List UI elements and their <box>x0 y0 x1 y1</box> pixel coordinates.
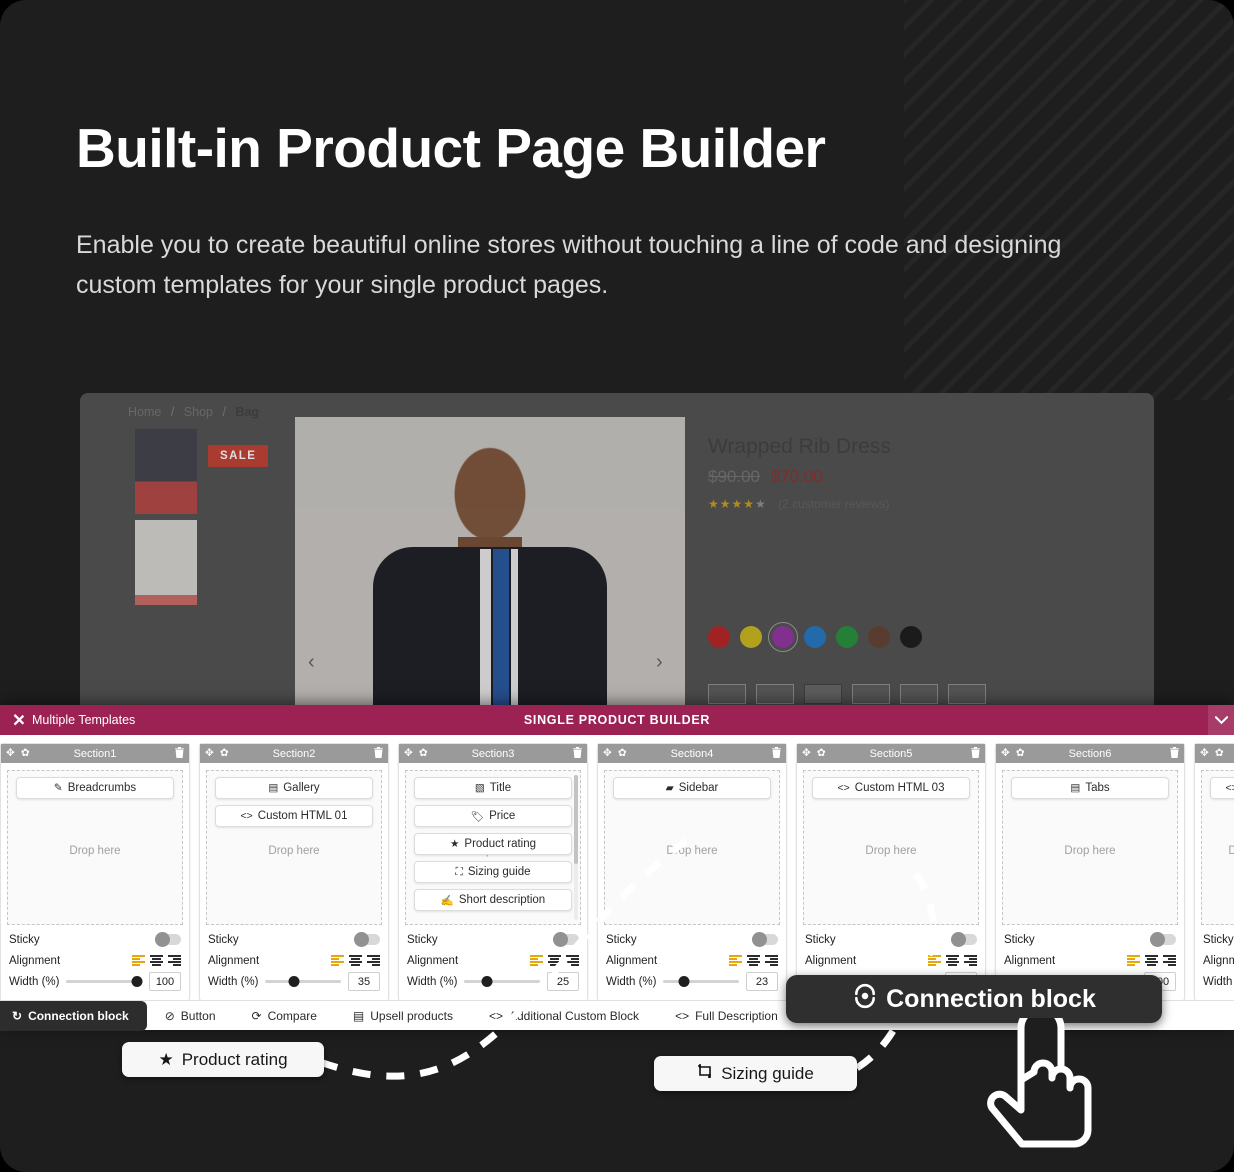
palette-item-label: Upsell products <box>370 1009 453 1023</box>
section-header[interactable]: ✥✿Section1 <box>1 744 189 763</box>
alignment-controls[interactable] <box>132 955 181 966</box>
align-center-icon[interactable] <box>349 955 362 966</box>
size-option[interactable] <box>900 684 938 704</box>
alignment-label: Alignment <box>407 955 530 967</box>
color-swatch[interactable] <box>804 626 826 648</box>
star-icon: ★★★★★ <box>708 497 767 511</box>
sticky-label: Sticky <box>9 934 155 946</box>
sticky-label: Sticky <box>1203 934 1234 946</box>
gallery-prev-arrow[interactable]: ‹ <box>308 651 315 674</box>
section-block[interactable]: ✎Breadcrumbs <box>16 777 174 799</box>
block-icon: ▤ <box>268 782 278 794</box>
sizing-guide-icon <box>697 1063 713 1084</box>
breadcrumb-separator: / <box>222 405 225 419</box>
align-center-icon[interactable] <box>150 955 163 966</box>
width-label: Width (%) <box>208 976 258 988</box>
builder-section[interactable]: ✥✿Section6Drop here▤TabsStickyAlignmentW… <box>995 743 1185 1001</box>
gallery-next-arrow[interactable]: › <box>656 651 663 674</box>
callout-product-rating: ★ Product rating <box>122 1042 324 1077</box>
block-label: Short description <box>459 894 545 906</box>
palette-item-label: Full Description <box>695 1009 778 1023</box>
align-right-icon[interactable] <box>168 955 181 966</box>
align-left-icon[interactable] <box>132 955 145 966</box>
section-controls: StickyAlignmentWidth (%)100 <box>1 925 189 1000</box>
block-icon: ⛶ <box>455 866 462 879</box>
sticky-toggle[interactable] <box>951 934 977 945</box>
section-header[interactable]: ✥✿S <box>1195 744 1234 763</box>
drop-here-label: Drop here <box>1003 845 1177 857</box>
trash-icon[interactable] <box>175 747 184 761</box>
block-label: Custom HTML 03 <box>855 782 945 794</box>
section-controls: StickyAlignmentWidth (%)35 <box>200 925 388 1000</box>
gallery-thumbnails[interactable] <box>135 429 197 611</box>
section-block[interactable]: ▧Title <box>414 777 572 799</box>
logo-icon <box>12 714 25 727</box>
section-controls: StickyAlignmentWidth (%)23 <box>598 925 786 1000</box>
section-block[interactable]: ⛶Sizing guide <box>414 861 572 883</box>
palette-item[interactable]: ▤Upsell products <box>335 1001 471 1031</box>
alignment-controls[interactable] <box>729 955 778 966</box>
palette-item[interactable]: <>Additional Custom Block <box>471 1001 657 1031</box>
star-icon: ★ <box>158 1050 173 1070</box>
sale-badge: SALE <box>208 445 268 467</box>
builder-section[interactable]: ✥✿Section5Drop here<>Custom HTML 03Stick… <box>796 743 986 1001</box>
color-swatch[interactable] <box>708 626 730 648</box>
align-left-icon[interactable] <box>331 955 344 966</box>
size-option[interactable] <box>708 684 746 704</box>
callout-label: Sizing guide <box>721 1064 814 1084</box>
block-label: Breadcrumbs <box>68 782 136 794</box>
palette-item[interactable]: <>Full Description <box>657 1001 796 1031</box>
drop-here-label: Drop here <box>1202 845 1234 857</box>
alignment-label: Alignment <box>606 955 729 967</box>
breadcrumb-home[interactable]: Home <box>128 405 161 419</box>
color-swatch[interactable] <box>836 626 858 648</box>
section-name: Section1 <box>1 748 189 760</box>
section-block[interactable]: ▤Gallery <box>215 777 373 799</box>
breadcrumb: Home / Shop / Bag <box>128 405 259 419</box>
section-header[interactable]: ✥✿Section3 <box>399 744 587 763</box>
section-dropzone[interactable]: Drop here✎Breadcrumbs <box>7 770 183 925</box>
size-option[interactable] <box>804 684 842 704</box>
section-name: Section4 <box>598 748 786 760</box>
callout-label: Product rating <box>182 1050 288 1070</box>
align-right-icon[interactable] <box>566 955 579 966</box>
review-count[interactable]: (2 customer reviews) <box>778 497 889 511</box>
width-value[interactable]: 35 <box>348 972 380 991</box>
trash-icon[interactable] <box>374 747 383 761</box>
block-icon: ▤ <box>1070 782 1080 794</box>
color-swatches[interactable] <box>708 626 1118 648</box>
product-description: Trend always offers the season's hottest… <box>708 523 1118 590</box>
section-name: Section5 <box>797 748 985 760</box>
page-subtitle: Enable you to create beautiful online st… <box>76 225 1136 306</box>
product-main-image <box>295 417 685 713</box>
callout-connection-block: Connection block <box>786 975 1162 1023</box>
block-label: Sizing guide <box>468 866 531 878</box>
section-controls: StickyAlignmentWidth (%) <box>1195 925 1234 1000</box>
section-dropzone[interactable]: Drop here▤Tabs <box>1002 770 1178 925</box>
trash-icon[interactable] <box>1170 747 1179 761</box>
block-label: Gallery <box>283 782 319 794</box>
width-value[interactable]: 100 <box>149 972 181 991</box>
sections-container[interactable]: ✥✿Section1Drop here✎BreadcrumbsStickyAli… <box>0 735 1234 1005</box>
section-header[interactable]: ✥✿Section2 <box>200 744 388 763</box>
product-details: Wrapped Rib Dress $90.00 $70.00 ★★★★★ (2… <box>708 435 1118 704</box>
palette-item[interactable]: ↻Connection block <box>0 1001 147 1031</box>
alignment-label: Alignment <box>805 955 928 967</box>
align-right-icon[interactable] <box>964 955 977 966</box>
section-dropzone[interactable]: Drop here▰Sidebar <box>604 770 780 925</box>
color-swatch[interactable] <box>900 626 922 648</box>
drop-here-label: Drop here <box>8 845 182 857</box>
drop-here-label: Drop here <box>804 845 978 857</box>
block-icon: <> <box>838 782 850 794</box>
sticky-label: Sticky <box>1004 934 1150 946</box>
width-label: Width (%) <box>606 976 656 988</box>
width-label: Width (%) <box>407 976 457 988</box>
palette-item-icon: ▤ <box>353 1009 364 1023</box>
section-block[interactable]: ✍Short description <box>414 889 572 911</box>
alignment-label: Alignment <box>1203 955 1234 967</box>
sticky-toggle[interactable] <box>553 934 579 945</box>
color-label: Color: <box>708 604 1118 618</box>
size-option[interactable] <box>852 684 890 704</box>
section-name: Section2 <box>200 748 388 760</box>
palette-item[interactable]: ⊘Button <box>147 1001 234 1031</box>
chevron-down-icon[interactable] <box>1208 705 1234 735</box>
block-label: Tabs <box>1085 782 1109 794</box>
section-block[interactable]: ▤Tabs <box>1011 777 1169 799</box>
alignment-label: Alignment <box>9 955 132 967</box>
align-right-icon[interactable] <box>1163 955 1176 966</box>
align-center-icon[interactable] <box>548 955 561 966</box>
width-label: Width (%) <box>9 976 59 988</box>
builder-section[interactable]: ✥✿Section2Drop here▤Gallery<>Custom HTML… <box>199 743 389 1001</box>
section-name: Section3 <box>399 748 587 760</box>
color-swatch[interactable] <box>740 626 762 648</box>
palette-item-label: Connection block <box>28 1009 129 1023</box>
block-icon: <> <box>1226 782 1234 794</box>
trash-icon[interactable] <box>573 747 582 761</box>
alignment-label: Alignment <box>1004 955 1127 967</box>
sticky-label: Sticky <box>606 934 752 946</box>
block-icon: ▰ <box>666 782 674 794</box>
section-header[interactable]: ✥✿Section5 <box>797 744 985 763</box>
palette-item-label: Button <box>181 1009 216 1023</box>
alignment-controls[interactable] <box>928 955 977 966</box>
palette-item[interactable]: ⟳Compare <box>234 1001 335 1031</box>
breadcrumb-shop[interactable]: Shop <box>184 405 213 419</box>
palette-item-icon: <> <box>675 1009 689 1023</box>
sticky-label: Sticky <box>805 934 951 946</box>
palette-item-icon: ⊘ <box>165 1009 175 1023</box>
block-icon: ✎ <box>54 782 63 794</box>
hero-section: Built-in Product Page Builder Enable you… <box>76 118 1156 306</box>
block-icon: ★ <box>450 838 459 850</box>
alignment-controls[interactable] <box>530 955 579 966</box>
trash-icon[interactable] <box>772 747 781 761</box>
product-preview-card: Home / Shop / Bag SALE ‹ › Wrappe <box>80 393 1154 713</box>
alignment-controls[interactable] <box>331 955 380 966</box>
product-title: Wrapped Rib Dress <box>708 435 1118 459</box>
callout-sizing-guide: Sizing guide <box>654 1056 857 1091</box>
drop-here-label: Drop here <box>605 845 779 857</box>
trash-icon[interactable] <box>971 747 980 761</box>
section-controls: StickyAlignmentWidth (%)25 <box>399 925 587 1000</box>
sticky-toggle[interactable] <box>752 934 778 945</box>
builder-section[interactable]: ✥✿Section3Drop here▧Title🏷Price★Product … <box>398 743 588 1001</box>
align-right-icon[interactable] <box>765 955 778 966</box>
section-name: S <box>1195 748 1234 760</box>
section-name: Section6 <box>996 748 1184 760</box>
page-root: Built-in Product Page Builder Enable you… <box>0 0 1234 1172</box>
breadcrumb-separator: / <box>171 405 174 419</box>
width-label: Width (%) <box>1203 976 1234 988</box>
scrollbar[interactable] <box>574 775 578 864</box>
section-block[interactable]: 🏷Price <box>414 805 572 827</box>
section-header[interactable]: ✥✿Section6 <box>996 744 1184 763</box>
thumbnail-2[interactable] <box>135 520 197 605</box>
width-value[interactable]: 25 <box>547 972 579 991</box>
alignment-controls[interactable] <box>1127 955 1176 966</box>
align-left-icon[interactable] <box>729 955 742 966</box>
width-value[interactable]: 23 <box>746 972 778 991</box>
sticky-toggle[interactable] <box>1150 934 1176 945</box>
palette-item-label: Compare <box>268 1009 317 1023</box>
color-swatch[interactable] <box>868 626 890 648</box>
breadcrumb-current: Bag <box>235 405 259 419</box>
thumbnail-1[interactable] <box>135 429 197 514</box>
palette-item-label: Additional Custom Block <box>509 1009 639 1023</box>
callout-label: Connection block <box>886 985 1096 1014</box>
palette-item-icon: ↻ <box>12 1009 22 1023</box>
block-icon: 🏷 <box>471 810 484 823</box>
width-slider[interactable] <box>66 976 142 987</box>
sticky-label: Sticky <box>407 934 553 946</box>
section-header[interactable]: ✥✿Section4 <box>598 744 786 763</box>
sticky-toggle[interactable] <box>155 934 181 945</box>
block-label: Product rating <box>464 838 536 850</box>
block-icon: ▧ <box>475 782 485 794</box>
size-label: Size: <box>708 662 1118 676</box>
align-right-icon[interactable] <box>367 955 380 966</box>
block-label: Custom HTML 01 <box>258 810 348 822</box>
section-dropzone[interactable]: Drop here<>Custom HTML 03 <box>803 770 979 925</box>
sticky-toggle[interactable] <box>354 934 380 945</box>
section-block[interactable]: <>Custom <box>1210 777 1234 799</box>
size-options[interactable] <box>708 684 1118 704</box>
color-swatch[interactable] <box>772 626 794 648</box>
price-new: $70.00 <box>771 467 823 486</box>
block-label: Price <box>489 810 515 822</box>
builder-center-title: SINGLE PRODUCT BUILDER <box>0 713 1234 727</box>
block-label: Title <box>490 782 511 794</box>
align-left-icon[interactable] <box>928 955 941 966</box>
section-block[interactable]: ▰Sidebar <box>613 777 771 799</box>
block-label: Sidebar <box>679 782 719 794</box>
builder-section[interactable]: ✥✿Section1Drop here✎BreadcrumbsStickyAli… <box>0 743 190 1001</box>
builder-window-title: Multiple Templates <box>32 713 135 727</box>
section-dropzone[interactable]: Drop here▧Title🏷Price★Product rating⛶Siz… <box>405 770 581 925</box>
size-option[interactable] <box>948 684 986 704</box>
product-rating-row: ★★★★★ (2 customer reviews) <box>708 497 1118 511</box>
section-block[interactable]: <>Custom HTML 03 <box>812 777 970 799</box>
block-icon: ✍ <box>441 894 454 907</box>
connection-icon <box>852 983 878 1016</box>
alignment-label: Alignment <box>208 955 331 967</box>
align-center-icon[interactable] <box>747 955 760 966</box>
palette-item-icon: <> <box>489 1009 503 1023</box>
hand-cursor-icon <box>985 1018 1105 1148</box>
price-old: $90.00 <box>708 467 760 486</box>
align-left-icon[interactable] <box>530 955 543 966</box>
width-slider[interactable] <box>265 976 341 987</box>
drop-here-label: Drop here <box>207 845 381 857</box>
section-dropzone[interactable]: Drop here▤Gallery<>Custom HTML 01 <box>206 770 382 925</box>
section-block[interactable]: <>Custom HTML 01 <box>215 805 373 827</box>
builder-title-bar: Multiple Templates SINGLE PRODUCT BUILDE… <box>0 705 1234 735</box>
builder-section[interactable]: ✥✿SDrop here<>CustomStickyAlignmentWidth… <box>1194 743 1234 1001</box>
width-slider[interactable] <box>464 976 540 987</box>
section-dropzone[interactable]: Drop here<>Custom <box>1201 770 1234 925</box>
align-center-icon[interactable] <box>1145 955 1158 966</box>
block-icon: <> <box>241 810 253 822</box>
width-slider[interactable] <box>663 976 739 987</box>
align-left-icon[interactable] <box>1127 955 1140 966</box>
size-option[interactable] <box>756 684 794 704</box>
sticky-label: Sticky <box>208 934 354 946</box>
product-price: $90.00 $70.00 <box>708 467 1118 487</box>
builder-section[interactable]: ✥✿Section4Drop here▰SidebarStickyAlignme… <box>597 743 787 1001</box>
palette-item-icon: ⟳ <box>252 1009 262 1023</box>
section-block[interactable]: ★Product rating <box>414 833 572 855</box>
align-center-icon[interactable] <box>946 955 959 966</box>
page-title: Built-in Product Page Builder <box>76 118 1156 179</box>
